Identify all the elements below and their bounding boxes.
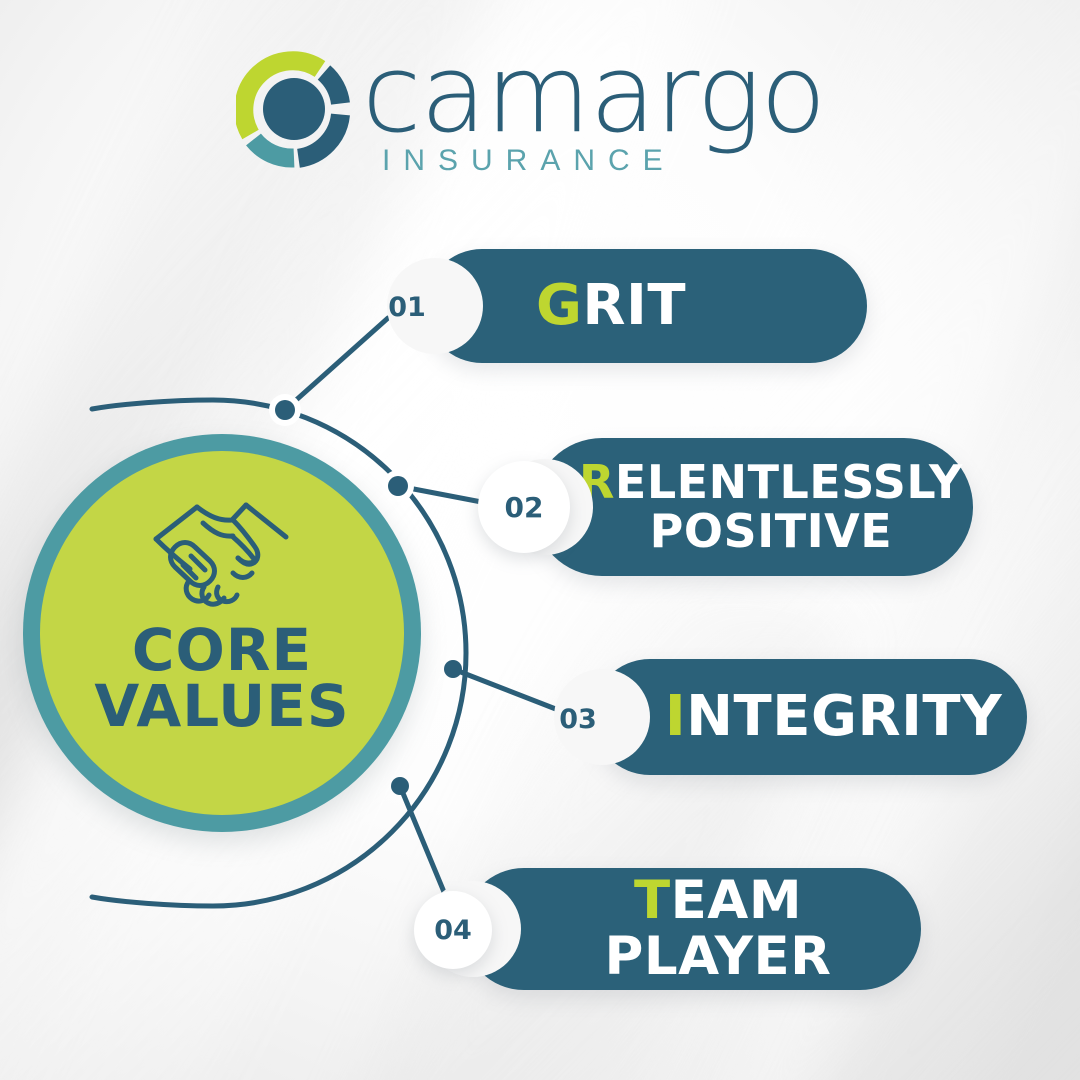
node-dot-03	[444, 660, 462, 678]
node-dot-04	[391, 777, 409, 795]
node-dot-02	[388, 476, 408, 496]
value-accent-letter-01: G	[536, 273, 582, 338]
value-label-02-line-2: POSITIVE	[579, 507, 963, 556]
value-label-01: GRIT	[425, 276, 867, 335]
connector-line-01	[285, 318, 388, 410]
core-values-circle: CORE VALUES	[23, 434, 421, 832]
value-label-02-line-1: RELENTLESSLY	[579, 458, 963, 507]
core-values-title: CORE VALUES	[94, 623, 349, 734]
value-number-badge-02[interactable]: 02	[478, 461, 570, 553]
value-pill-relentlessly-positive[interactable]: RELENTLESSLY POSITIVE	[533, 438, 973, 576]
connector-line-03	[453, 669, 566, 713]
brand-tagline: INSURANCE	[382, 144, 676, 178]
value-number-badge-03[interactable]: 03	[548, 689, 608, 749]
brand-wordmark: camargo	[362, 32, 825, 157]
value-number-badge-01[interactable]: 01	[378, 278, 436, 336]
node-dot-01	[275, 400, 295, 420]
value-accent-letter-03: I	[665, 684, 686, 749]
core-values-title-line-2: VALUES	[94, 679, 349, 735]
value-pill-grit[interactable]: GRIT	[425, 249, 867, 363]
value-label-04: TEAM PLAYER	[463, 873, 921, 985]
core-values-inner: CORE VALUES	[40, 451, 404, 815]
handshake-icon	[134, 493, 310, 613]
orbit-arc-tail-top	[92, 400, 213, 409]
node-halo-02	[382, 470, 414, 502]
value-label-02: RELENTLESSLY POSITIVE	[533, 458, 977, 556]
core-values-title-line-1: CORE	[94, 623, 349, 679]
value-rest-01: RIT	[582, 273, 686, 338]
node-halo-01	[269, 394, 301, 426]
value-rest-02: ELENTLESSLY	[615, 455, 963, 509]
orbit-arc-tail-bottom	[92, 897, 213, 906]
connector-line-04	[400, 786, 444, 892]
value-pill-team-player[interactable]: TEAM PLAYER	[463, 868, 921, 990]
infographic-canvas: camargo INSURANCE	[0, 0, 1080, 1080]
value-rest-03: NTEGRITY	[686, 684, 1002, 749]
value-number-badge-04[interactable]: 04	[414, 891, 492, 969]
value-accent-letter-04: T	[634, 870, 671, 931]
camargo-circle-mark-icon	[236, 48, 358, 170]
value-label-03: INTEGRITY	[592, 687, 1027, 746]
brand-logo: camargo INSURANCE	[236, 44, 836, 194]
value-pill-integrity[interactable]: INTEGRITY	[592, 659, 1027, 775]
